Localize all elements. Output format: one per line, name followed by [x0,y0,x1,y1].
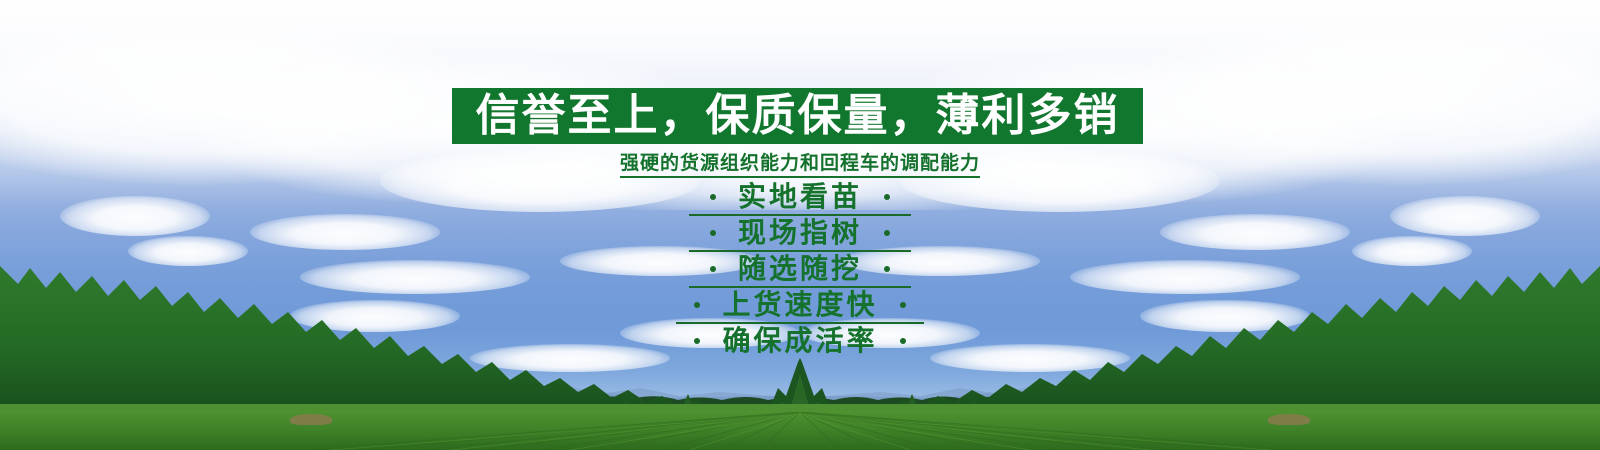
feature-label: 上货速度快 [722,291,877,319]
feature-label: 实地看苗 [738,183,862,211]
bullet-dot-icon [884,266,890,272]
feature-row: 随选随挖 [710,252,890,288]
feature-row: 现场指树 [710,216,890,252]
feature-label: 随选随挖 [738,255,862,283]
bullet-dot-icon [884,194,890,200]
feature-label: 现场指树 [738,219,862,247]
bullet-dot-icon [710,266,716,272]
feature-label: 确保成活率 [722,327,877,355]
headline-bar: 信誉至上，保质保量，薄利多销 [452,88,1143,144]
bullet-dot-icon [694,338,700,344]
promo-banner: 信誉至上，保质保量，薄利多销 强硬的货源组织能力和回程车的调配能力 实地看苗 现… [0,0,1600,450]
earth-mound [290,414,332,425]
subtitle: 强硬的货源组织能力和回程车的调配能力 [0,148,1600,175]
feature-row: 实地看苗 [710,180,890,216]
feature-row: 确保成活率 [694,324,905,360]
feature-list: 实地看苗 现场指树 随选随挖 上货速度快 确保成活率 [0,180,1600,360]
bullet-dot-icon [710,230,716,236]
headline-text: 信誉至上，保质保量，薄利多销 [476,94,1120,138]
bullet-dot-icon [900,338,906,344]
feature-row: 上货速度快 [694,288,905,324]
bullet-dot-icon [900,302,906,308]
subtitle-text: 强硬的货源组织能力和回程车的调配能力 [620,152,980,178]
earth-mound [1268,414,1310,425]
bullet-dot-icon [694,302,700,308]
bullet-dot-icon [710,194,716,200]
bullet-dot-icon [884,230,890,236]
